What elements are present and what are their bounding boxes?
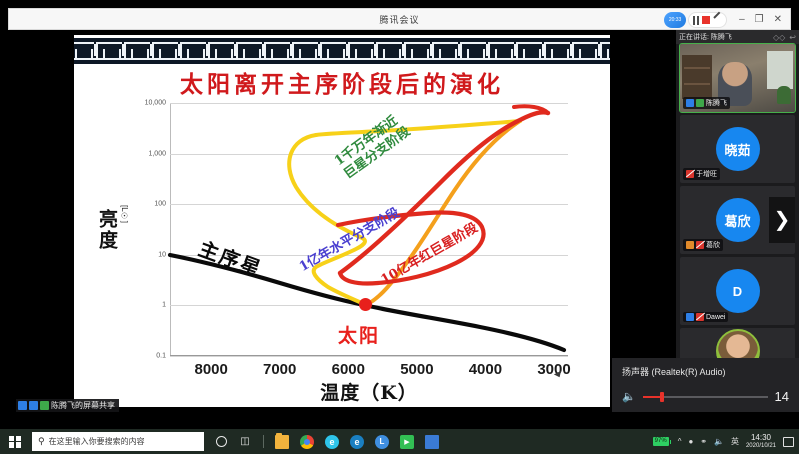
speaking-label: 正在讲话: 陈腾飞 <box>679 32 732 42</box>
clock-time: 14:30 <box>746 434 776 442</box>
participant-name: 于增旺 <box>696 169 717 179</box>
y-tick-label: 100 <box>154 201 166 208</box>
volume-row: 🔈 14 <box>622 389 789 404</box>
battery-tip <box>670 440 671 444</box>
clock-icon[interactable]: L <box>375 435 389 449</box>
screen: 腾讯会议 20:33 – ❐ ✕ <box>0 0 799 454</box>
y-axis-label: 亮度 <box>94 209 121 251</box>
taskbar-icons: ◫ e e L ▶ <box>216 435 439 449</box>
audio-device-label: 扬声器 (Realtek(R) Audio) <box>622 365 789 378</box>
mic-icon <box>40 401 49 410</box>
avatar: 葛欣 <box>716 198 760 242</box>
x-tick-label: 6000 <box>332 361 365 378</box>
maximize-button[interactable]: ❐ <box>755 15 764 25</box>
y-tick-label: 1,000 <box>148 150 166 157</box>
search-icon: ⚲ <box>38 436 45 447</box>
meander-row <box>74 42 610 59</box>
sun-marker-dot <box>359 298 372 311</box>
edge-icon[interactable]: e <box>350 435 364 449</box>
windows-logo-icon <box>9 436 21 448</box>
ie-icon[interactable]: e <box>325 435 339 449</box>
webcam-plant <box>777 86 791 104</box>
taskbar-divider <box>263 435 264 448</box>
rail-bar-icons: ◇◇ ↩ <box>773 33 796 42</box>
decorative-border <box>74 38 610 64</box>
person-icon <box>18 401 27 410</box>
x-axis-label: 温度（K） <box>320 378 418 405</box>
participant-name-badge: 于增旺 <box>683 168 720 180</box>
volume-fill <box>643 396 660 398</box>
clock-date: 2020/10/21 <box>746 443 776 449</box>
mic-off-icon <box>696 241 704 249</box>
y-tick-label: 10,000 <box>145 100 166 107</box>
y-tick-label: 1 <box>162 302 166 309</box>
participant-name-badge: Dawei <box>683 312 728 322</box>
person-icon <box>686 313 694 321</box>
participant-name: 陈腾飞 <box>706 98 727 108</box>
ime-indicator[interactable]: 英 <box>731 436 739 447</box>
slide-title: 太阳离开主序阶段后的演化 <box>74 65 610 99</box>
participant-tile[interactable]: 葛欣 ❯ 葛欣 <box>680 186 795 254</box>
person-icon <box>686 99 694 107</box>
battery-percent: 97% <box>653 437 669 446</box>
network-icon[interactable]: ⚭ <box>700 437 707 446</box>
x-tick-label: 7000 <box>263 361 296 378</box>
hr-diagram-plot: 10,000 1,000 100 10 1 0.1 亮度 [L☉] 8000 7… <box>170 103 568 356</box>
next-page-arrow[interactable]: ❯ <box>769 197 795 243</box>
webcam-window <box>767 51 793 89</box>
screen-share-chip: 陈腾飞的屏幕共享 <box>16 399 119 412</box>
y-axis-unit: [L☉] <box>120 205 129 223</box>
participant-tile[interactable]: 晓茹 于增旺 <box>680 115 795 183</box>
file-explorer-icon[interactable] <box>275 435 289 449</box>
mic-off-icon <box>686 170 694 178</box>
x-tick-label: 8000 <box>195 361 228 378</box>
participant-name: Dawei <box>706 314 725 321</box>
window-titlebar: 腾讯会议 20:33 – ❐ ✕ <box>8 8 791 30</box>
taskbar-clock[interactable]: 14:30 2020/10/21 <box>746 434 776 449</box>
cortana-icon[interactable] <box>216 436 227 447</box>
media-icon[interactable]: ▶ <box>400 435 414 449</box>
participant-name: 葛欣 <box>706 240 720 250</box>
taskbar-search[interactable]: ⚲ 在这里输入你要搜索的内容 <box>32 432 204 451</box>
x-tick-label: 5000 <box>400 361 433 378</box>
volume-slider[interactable] <box>643 396 768 398</box>
participant-tile[interactable]: 陈腾飞 <box>680 44 795 112</box>
mic-on-icon <box>696 99 704 107</box>
search-placeholder: 在这里输入你要搜索的内容 <box>49 436 145 447</box>
avatar: D <box>716 269 760 313</box>
tray-app-icon[interactable]: ● <box>688 437 693 446</box>
collapse-icon[interactable]: ↩ <box>789 33 796 42</box>
gridline <box>170 356 568 357</box>
stop-icon[interactable] <box>702 16 710 24</box>
participant-tile[interactable]: D Dawei <box>680 257 795 325</box>
participant-name-badge: 陈腾飞 <box>683 97 730 109</box>
windows-taskbar: ⚲ 在这里输入你要搜索的内容 ◫ e e L ▶ 97% ^ ● ⚭ 🔈 英 <box>0 429 799 454</box>
participant-name-badge: 葛欣 <box>683 239 723 251</box>
y-tick-label: 0.1 <box>156 353 166 360</box>
pause-icon[interactable] <box>693 16 699 25</box>
tray-expand-icon[interactable]: ^ <box>678 437 682 446</box>
task-view-icon[interactable]: ◫ <box>238 435 252 449</box>
presentation-slide: 太阳离开主序阶段后的演化 10,000 1,000 100 10 1 0.1 亮… <box>74 35 610 407</box>
mic-off-icon <box>696 313 704 321</box>
participants-rail: 正在讲话: 陈腾飞 ◇◇ ↩ 陈腾飞 晓茹 于增旺 <box>676 30 799 412</box>
meeting-timer-badge[interactable]: 20:33 <box>664 12 686 28</box>
volume-knob[interactable] <box>660 392 664 402</box>
screen-icon <box>29 401 38 410</box>
x-tick-label: 4000 <box>469 361 502 378</box>
annotation-sun: 太阳 <box>338 321 380 348</box>
share-chip-label: 陈腾飞的屏幕共享 <box>51 400 115 411</box>
start-button[interactable] <box>0 429 30 454</box>
close-button[interactable]: ✕ <box>774 15 782 25</box>
y-tick-label: 10 <box>158 251 166 258</box>
window-title: 腾讯会议 <box>379 13 419 26</box>
speaker-icon[interactable]: 🔈 <box>622 390 636 403</box>
audio-device-panel: 扬声器 (Realtek(R) Audio) 🔈 14 <box>612 358 799 412</box>
photos-icon[interactable] <box>425 435 439 449</box>
shared-screen-stage: 太阳离开主序阶段后的演化 10,000 1,000 100 10 1 0.1 亮… <box>8 30 676 412</box>
layout-icon[interactable]: ◇◇ <box>773 33 785 42</box>
volume-tray-icon[interactable]: 🔈 <box>714 437 724 446</box>
volume-value: 14 <box>775 389 789 404</box>
minimize-button[interactable]: – <box>739 15 745 25</box>
battery-indicator[interactable]: 97% <box>653 437 671 446</box>
avatar: 晓茹 <box>716 127 760 171</box>
system-tray: 97% ^ ● ⚭ 🔈 英 14:30 2020/10/21 <box>653 434 799 449</box>
series-horizontal-branch <box>316 121 520 135</box>
person-icon <box>686 241 694 249</box>
share-control-group <box>688 12 727 28</box>
pen-icon[interactable] <box>713 16 722 25</box>
chrome-icon[interactable] <box>300 435 314 449</box>
speaking-indicator-bar: 正在讲话: 陈腾飞 ◇◇ ↩ <box>676 30 799 44</box>
titlebar-controls: 20:33 – ❐ ✕ <box>664 9 786 31</box>
notification-center-icon[interactable] <box>783 437 794 447</box>
webcam-background <box>682 55 712 99</box>
window-buttons: – ❐ ✕ <box>739 15 782 25</box>
